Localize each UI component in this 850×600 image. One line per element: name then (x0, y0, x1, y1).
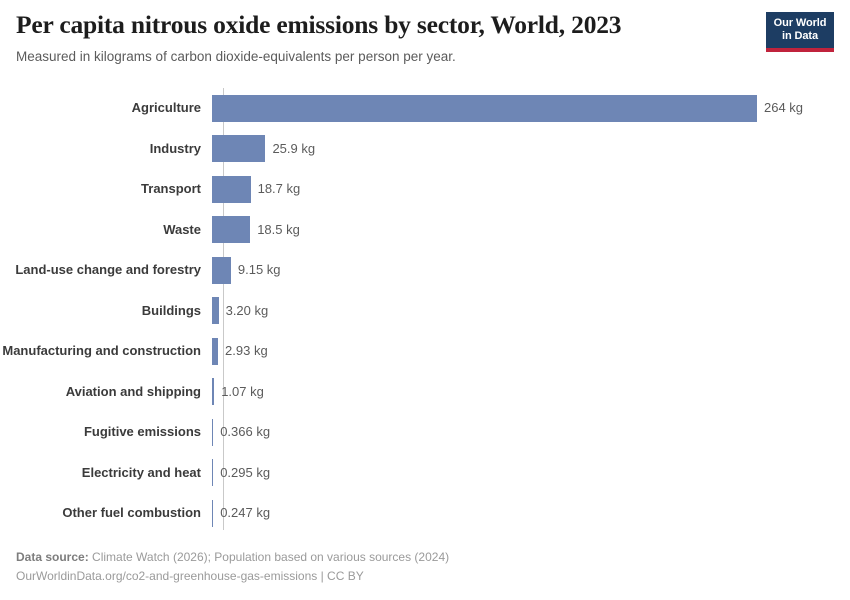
chart-header: Per capita nitrous oxide emissions by se… (16, 10, 834, 78)
logo-line-1: Our World (774, 17, 827, 30)
bar-category-label: Land-use change and forestry (0, 262, 212, 278)
bar-row[interactable]: Industry25.9 kg (0, 129, 850, 170)
bar-value-label: 264 kg (757, 100, 803, 116)
bar-row[interactable]: Other fuel combustion0.247 kg (0, 493, 850, 534)
bar-with-value: 18.5 kg (212, 216, 850, 243)
bar-value-label: 0.247 kg (213, 505, 270, 521)
our-world-in-data-logo[interactable]: Our World in Data (766, 12, 834, 52)
data-source-line: Data source: Climate Watch (2026); Popul… (16, 548, 834, 567)
bar-category-label: Industry (0, 141, 212, 157)
bar-category-label: Aviation and shipping (0, 384, 212, 400)
chart-root: Per capita nitrous oxide emissions by se… (0, 0, 850, 600)
bar-row[interactable]: Manufacturing and construction2.93 kg (0, 331, 850, 372)
bar-category-label: Electricity and heat (0, 465, 212, 481)
bar-with-value: 0.247 kg (212, 500, 850, 527)
bar-row[interactable]: Buildings3.20 kg (0, 291, 850, 332)
bar-row[interactable]: Agriculture264 kg (0, 88, 850, 129)
page-title: Per capita nitrous oxide emissions by se… (16, 10, 834, 40)
bar[interactable] (212, 297, 219, 324)
bar-category-label: Other fuel combustion (0, 505, 212, 521)
bar-value-label: 25.9 kg (265, 141, 315, 157)
bar-with-value: 18.7 kg (212, 176, 850, 203)
data-source-label: Data source: (16, 550, 89, 564)
bar-row[interactable]: Land-use change and forestry9.15 kg (0, 250, 850, 291)
bar-value-label: 1.07 kg (214, 384, 264, 400)
bar[interactable] (212, 216, 250, 243)
bar-row[interactable]: Aviation and shipping1.07 kg (0, 372, 850, 413)
bar-category-label: Manufacturing and construction (0, 343, 212, 359)
bar-row[interactable]: Electricity and heat0.295 kg (0, 453, 850, 494)
bar-value-label: 3.20 kg (219, 303, 269, 319)
logo-line-2: in Data (782, 30, 818, 43)
bar-value-label: 18.7 kg (251, 181, 301, 197)
bar-series: Agriculture264 kgIndustry25.9 kgTranspor… (0, 88, 850, 534)
data-source-text: Climate Watch (2026); Population based o… (89, 550, 449, 564)
chart-footer: Data source: Climate Watch (2026); Popul… (16, 548, 834, 586)
bar-with-value: 1.07 kg (212, 378, 850, 405)
bar-category-label: Agriculture (0, 100, 212, 116)
bar-category-label: Buildings (0, 303, 212, 319)
plot-area: Agriculture264 kgIndustry25.9 kgTranspor… (0, 88, 850, 532)
bar-value-label: 9.15 kg (231, 262, 281, 278)
bar-with-value: 3.20 kg (212, 297, 850, 324)
bar-with-value: 0.366 kg (212, 419, 850, 446)
license-line[interactable]: OurWorldinData.org/co2-and-greenhouse-ga… (16, 567, 834, 586)
bar-category-label: Waste (0, 222, 212, 238)
bar[interactable] (212, 176, 251, 203)
chart-subtitle: Measured in kilograms of carbon dioxide-… (16, 48, 834, 66)
bar-value-label: 18.5 kg (250, 222, 300, 238)
bar-with-value: 9.15 kg (212, 257, 850, 284)
bar-with-value: 0.295 kg (212, 459, 850, 486)
bar-row[interactable]: Transport18.7 kg (0, 169, 850, 210)
bar-with-value: 2.93 kg (212, 338, 850, 365)
bar[interactable] (212, 95, 757, 122)
bar-row[interactable]: Fugitive emissions0.366 kg (0, 412, 850, 453)
bar-with-value: 25.9 kg (212, 135, 850, 162)
bar-value-label: 0.366 kg (213, 424, 270, 440)
bar[interactable] (212, 257, 231, 284)
bar-category-label: Transport (0, 181, 212, 197)
bar-row[interactable]: Waste18.5 kg (0, 210, 850, 251)
bar-value-label: 2.93 kg (218, 343, 268, 359)
bar-value-label: 0.295 kg (213, 465, 270, 481)
bar-with-value: 264 kg (212, 95, 850, 122)
bar-category-label: Fugitive emissions (0, 424, 212, 440)
bar[interactable] (212, 135, 265, 162)
